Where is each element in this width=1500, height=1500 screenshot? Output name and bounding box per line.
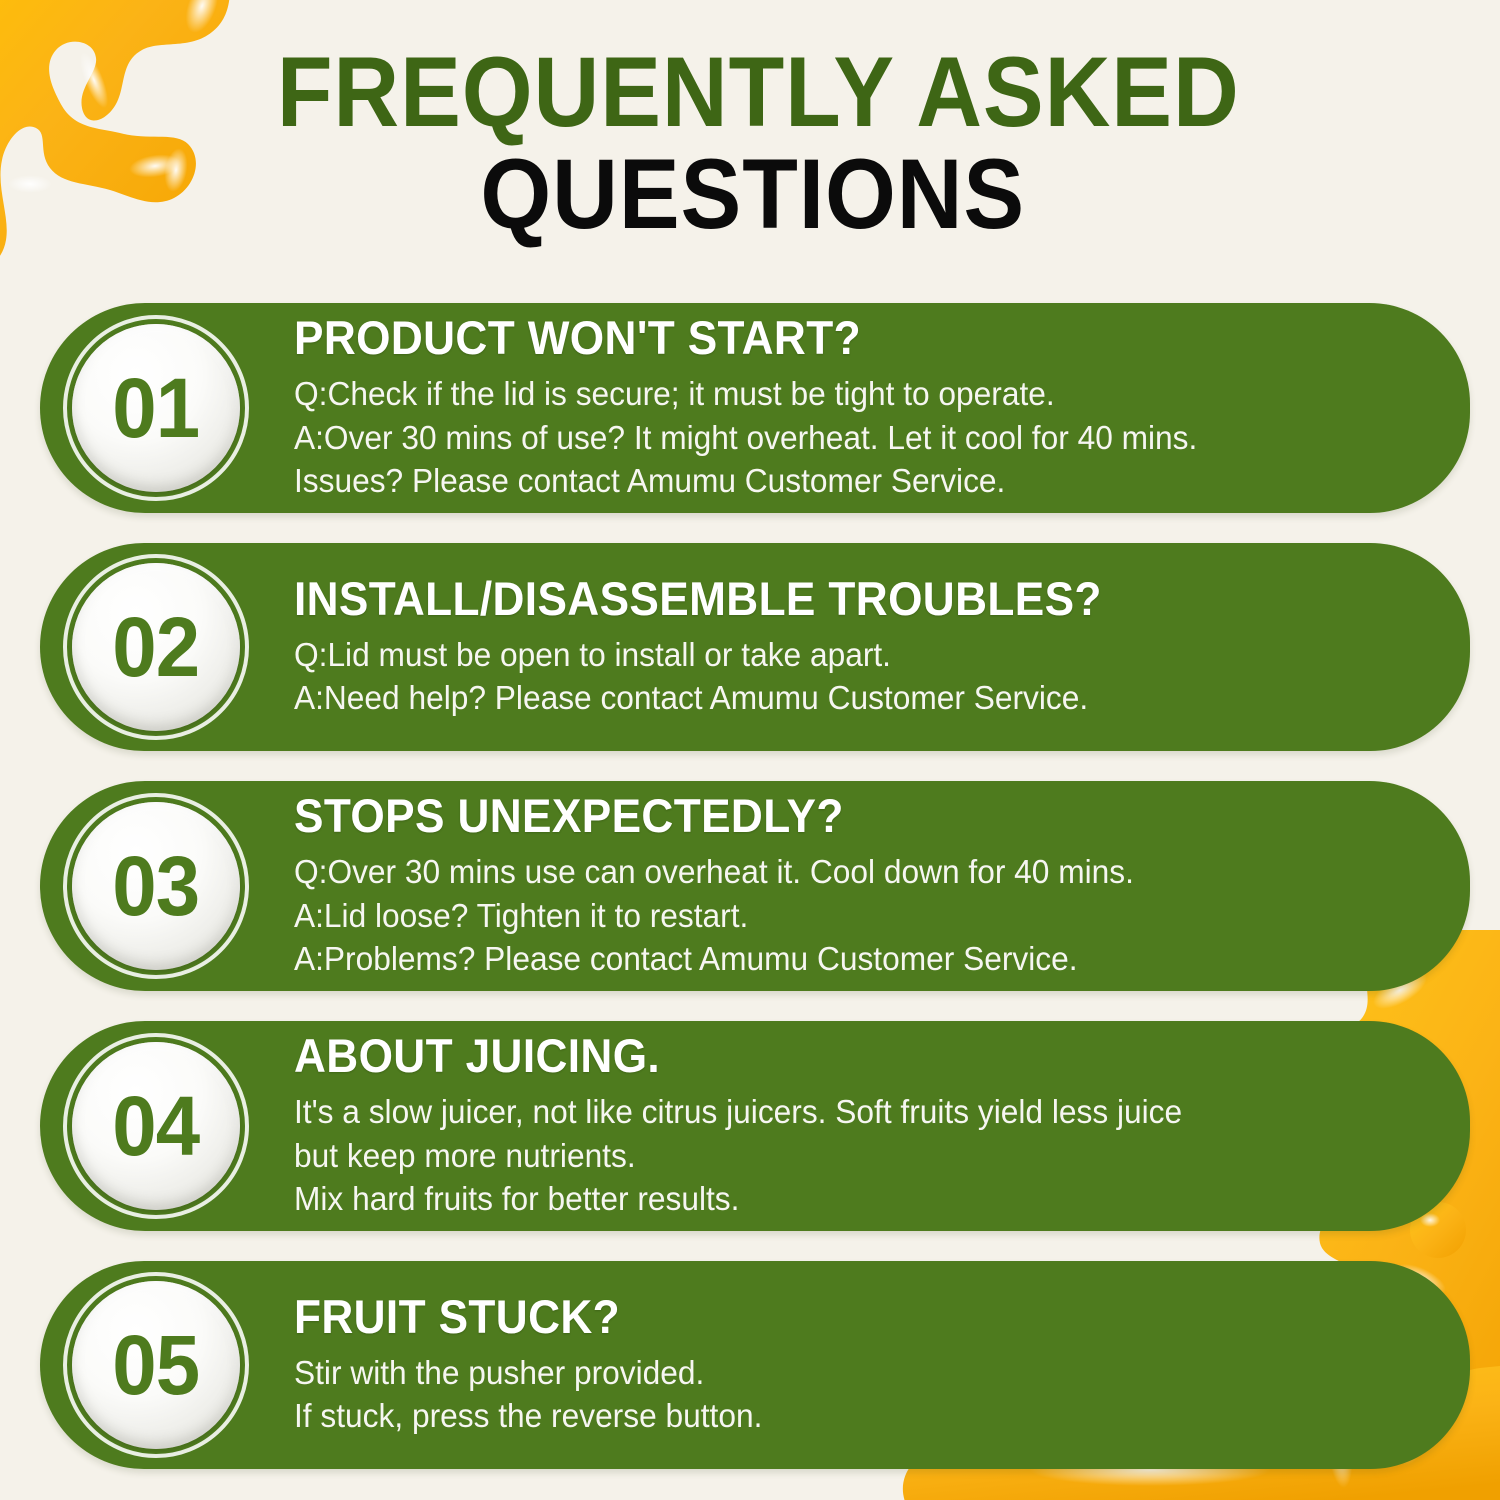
faq-answer-line: A:Problems? Please contact Amumu Custome… [294,937,1385,981]
faq-answer-line: If stuck, press the reverse button. [294,1394,1385,1438]
faq-list: 01 PRODUCT WON'T START? Q:Check if the l… [0,303,1500,1499]
faq-answer-line: but keep more nutrients. [294,1134,1385,1178]
faq-item[interactable]: 03 STOPS UNEXPECTEDLY? Q:Over 30 mins us… [40,781,1470,991]
faq-answer-line: A:Need help? Please contact Amumu Custom… [294,676,1385,720]
faq-item[interactable]: 02 INSTALL/DISASSEMBLE TROUBLES? Q:Lid m… [40,543,1470,751]
badge-circle: 05 [72,1281,240,1449]
page-title-line-1: FREQUENTLY ASKED [60,44,1440,140]
faq-number-badge: 04 [58,1028,254,1224]
faq-question: PRODUCT WON'T START? [294,313,1362,363]
badge-circle: 01 [72,324,240,492]
faq-number: 02 [113,605,200,689]
faq-answer-line: Q:Over 30 mins use can overheat it. Cool… [294,850,1385,894]
faq-question: FRUIT STUCK? [294,1292,1362,1342]
faq-answer-line: Issues? Please contact Amumu Customer Se… [294,459,1385,503]
badge-circle: 04 [72,1042,240,1210]
faq-question: ABOUT JUICING. [294,1031,1362,1081]
faq-text-block: PRODUCT WON'T START? Q:Check if the lid … [254,313,1470,502]
page-title-line-2: QUESTIONS [60,146,1440,242]
faq-answer-line: Mix hard fruits for better results. [294,1177,1385,1221]
faq-number: 04 [113,1084,200,1168]
faq-text-block: ABOUT JUICING. It's a slow juicer, not l… [254,1031,1470,1220]
faq-text-block: INSTALL/DISASSEMBLE TROUBLES? Q:Lid must… [254,574,1470,720]
faq-item[interactable]: 05 FRUIT STUCK? Stir with the pusher pro… [40,1261,1470,1469]
badge-circle: 03 [72,802,240,970]
page-header: FREQUENTLY ASKED QUESTIONS [0,44,1500,242]
faq-number-badge: 05 [58,1267,254,1463]
faq-number-badge: 03 [58,788,254,984]
faq-answer-line: A:Lid loose? Tighten it to restart. [294,894,1385,938]
badge-circle: 02 [72,563,240,731]
faq-question: INSTALL/DISASSEMBLE TROUBLES? [294,574,1362,624]
faq-answer-line: It's a slow juicer, not like citrus juic… [294,1090,1385,1134]
faq-question: STOPS UNEXPECTEDLY? [294,791,1362,841]
faq-answer-line: Q:Check if the lid is secure; it must be… [294,372,1385,416]
faq-page: FREQUENTLY ASKED QUESTIONS 01 PRODUCT WO… [0,0,1500,1500]
faq-number: 03 [113,844,200,928]
faq-item[interactable]: 04 ABOUT JUICING. It's a slow juicer, no… [40,1021,1470,1231]
faq-number: 01 [113,366,200,450]
faq-number-badge: 02 [58,549,254,745]
faq-item[interactable]: 01 PRODUCT WON'T START? Q:Check if the l… [40,303,1470,513]
faq-answer-line: Stir with the pusher provided. [294,1351,1385,1395]
faq-number: 05 [113,1323,200,1407]
faq-number-badge: 01 [58,310,254,506]
faq-text-block: STOPS UNEXPECTEDLY? Q:Over 30 mins use c… [254,791,1470,980]
faq-text-block: FRUIT STUCK? Stir with the pusher provid… [254,1292,1470,1438]
faq-answer-line: A:Over 30 mins of use? It might overheat… [294,416,1385,460]
faq-answer-line: Q:Lid must be open to install or take ap… [294,633,1385,677]
